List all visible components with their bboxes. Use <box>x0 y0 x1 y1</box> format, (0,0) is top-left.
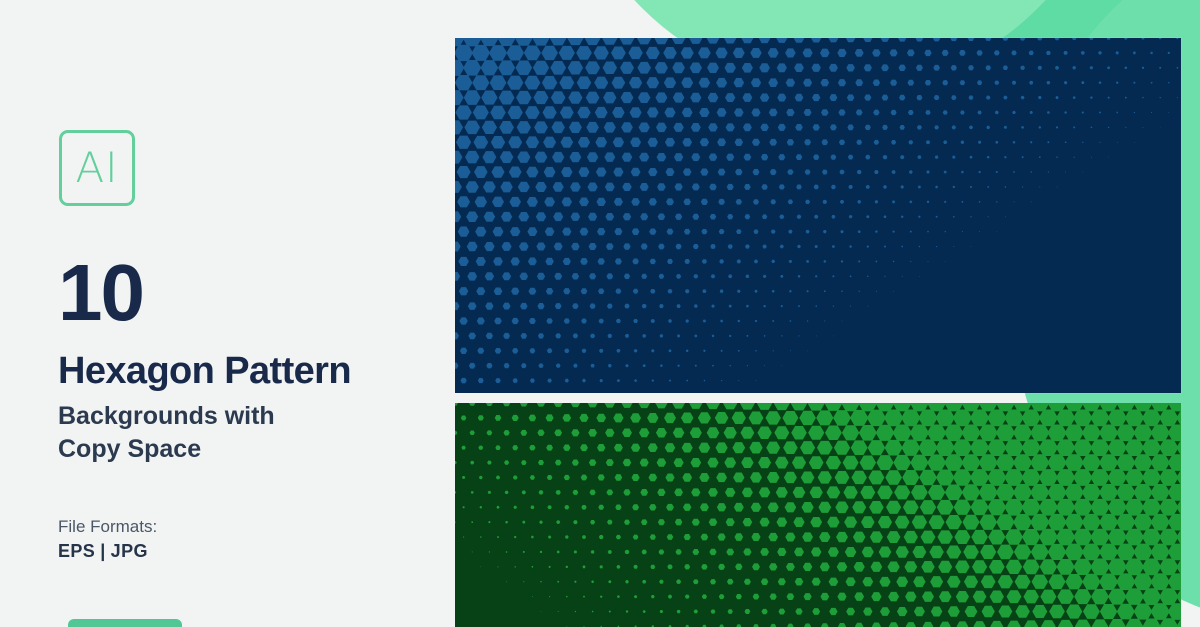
ai-format-badge: AI <box>59 130 135 206</box>
file-formats-label: File Formats: <box>58 518 157 535</box>
file-formats-separator: | <box>95 541 110 561</box>
item-count: 10 <box>58 253 143 333</box>
info-panel: AI 10 Hexagon Pattern Backgrounds with C… <box>0 0 455 627</box>
page-subtitle-line-2: Copy Space <box>58 433 438 466</box>
file-format-eps: EPS <box>58 541 95 561</box>
file-formats-value: EPS|JPG <box>58 542 148 560</box>
cta-button[interactable] <box>68 619 182 627</box>
page-title: Hexagon Pattern <box>58 352 351 390</box>
preview-canvas: AI 10 Hexagon Pattern Backgrounds with C… <box>0 0 1200 627</box>
ai-badge-label: AI <box>62 147 132 189</box>
file-format-jpg: JPG <box>111 541 148 561</box>
preview-thumbnail-green[interactable] <box>455 403 1181 627</box>
preview-thumbnail-blue[interactable] <box>455 38 1181 393</box>
page-subtitle-line-1: Backgrounds with <box>58 400 438 433</box>
page-subtitle: Backgrounds with Copy Space <box>58 400 438 466</box>
